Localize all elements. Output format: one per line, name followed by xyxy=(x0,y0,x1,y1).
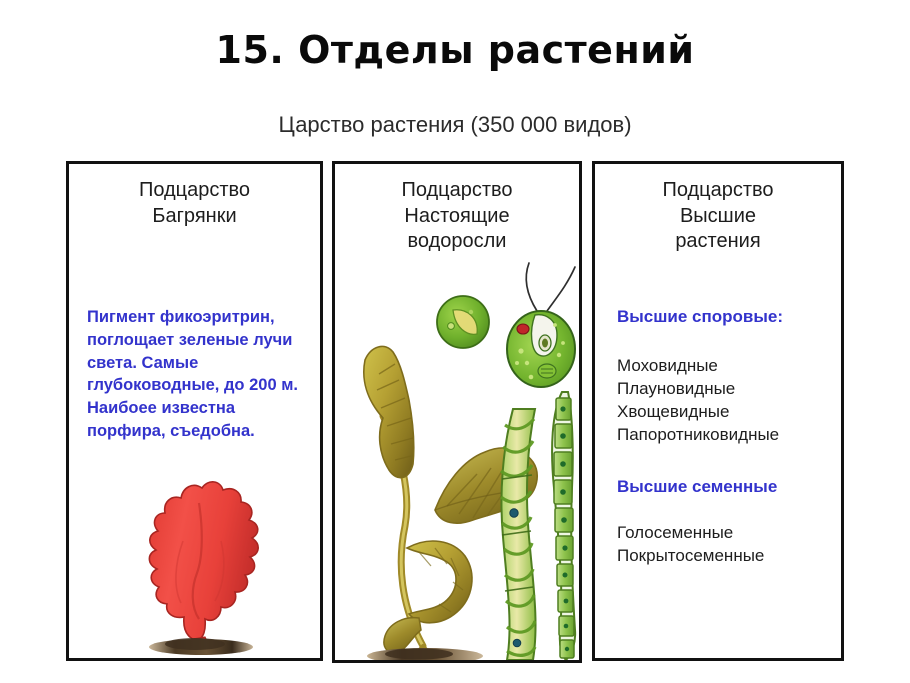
red-alga-illustration xyxy=(103,469,293,654)
page-title: 15. Отделы растений xyxy=(0,28,910,72)
column-vodorosli-heading: Подцарство Настоящие водоросли xyxy=(345,178,569,255)
higher-seed-plants-list: Голосеменные Покрытосеменные xyxy=(617,521,764,567)
column-vysshie: Подцарство Высшие растения Высшие споров… xyxy=(592,161,844,661)
higher-seed-plants-subheading: Высшие семенные xyxy=(617,477,777,497)
higher-spore-plants-list: Моховидные Плауновидные Хвощевидные Папо… xyxy=(617,354,779,446)
spirogyra-filament-illustration xyxy=(483,407,545,662)
chlorella-cell-illustration xyxy=(433,292,493,352)
column-vodorosli: Подцарство Настоящие водоросли xyxy=(332,161,582,663)
kingdom-subtitle: Царство растения (350 000 видов) xyxy=(0,112,910,138)
ulothrix-filament-illustration xyxy=(540,388,582,663)
slide-canvas: 15. Отделы растений Царство растения (35… xyxy=(0,0,910,683)
higher-spore-plants-subheading: Высшие споровые: xyxy=(617,307,783,327)
column-bagryanki: Подцарство Багрянки Пигмент фикоэритрин,… xyxy=(66,161,323,661)
column-vysshie-heading: Подцарство Высшие растения xyxy=(605,178,831,255)
column-bagryanki-heading: Подцарство Багрянки xyxy=(79,178,310,229)
column-bagryanki-description: Пигмент фикоэритрин, поглощает зеленые л… xyxy=(87,306,312,443)
chlamydomonas-cell-illustration xyxy=(493,259,582,394)
